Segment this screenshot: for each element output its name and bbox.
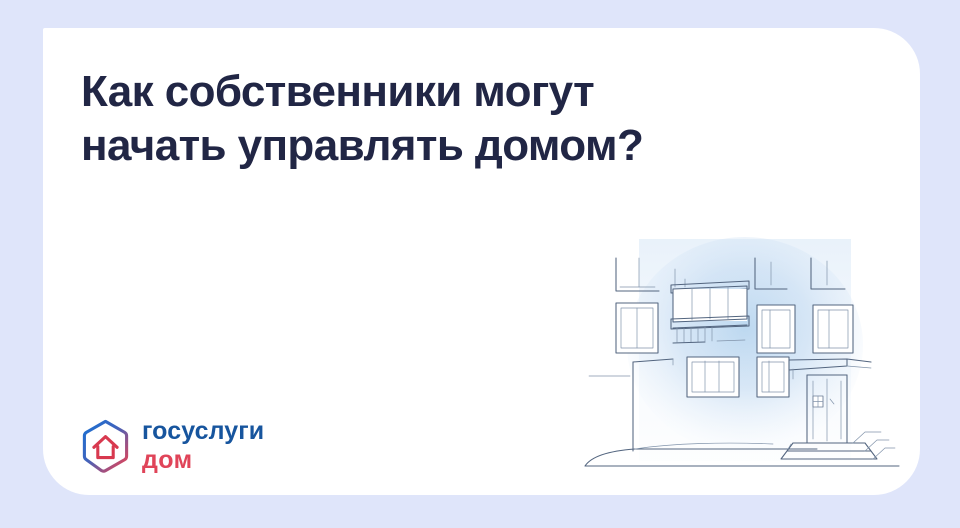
window-mid-right: [813, 305, 853, 353]
brand-logo-text: госуслуги дом: [142, 419, 264, 473]
poster-canvas: { "background": { "color": "#dfe5fa" }, …: [0, 0, 960, 528]
window-mid-left: [616, 303, 658, 353]
window-lower-left: [687, 357, 739, 397]
brand-logo-line2: дом: [142, 448, 264, 473]
building-illustration: .ln { fill:none; stroke:#53657f; stroke-…: [577, 229, 907, 487]
page-title: Как собственники могут начать управлять …: [81, 65, 721, 172]
window-lower-center: [757, 357, 789, 397]
brand-logo[interactable]: госуслуги дом: [81, 419, 264, 473]
content-card: Как собственники могут начать управлять …: [43, 28, 920, 495]
brand-logo-line1: госуслуги: [142, 419, 264, 444]
gosuslugi-dom-hexagon-house-icon: [81, 419, 130, 473]
entrance-door: [807, 375, 847, 443]
window-mid-center: [757, 305, 795, 353]
